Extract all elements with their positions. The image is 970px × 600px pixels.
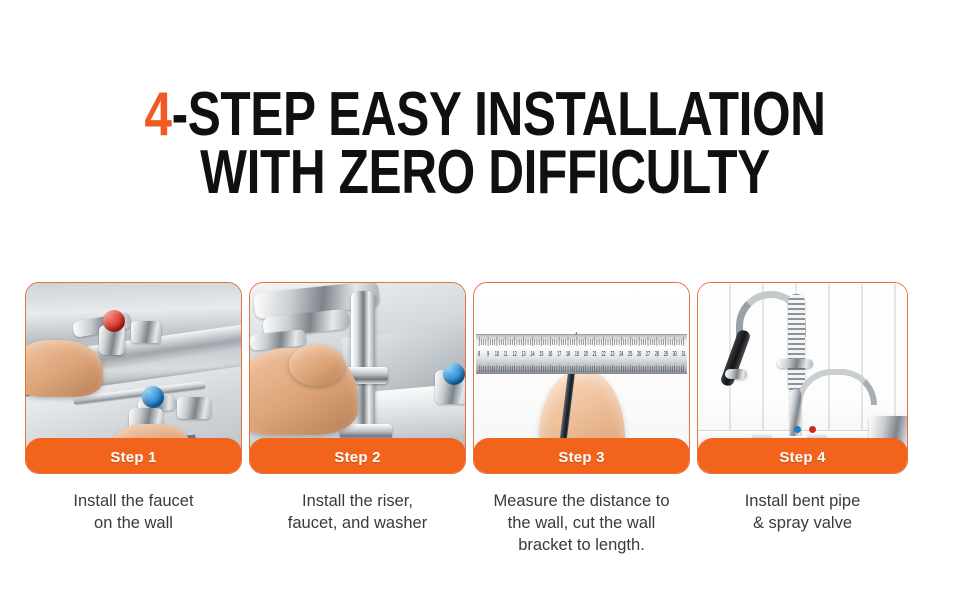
- svg-text:19: 19: [575, 351, 579, 359]
- step-4-badge-label: Step 4: [779, 449, 825, 466]
- step-2-card[interactable]: Step 2: [249, 282, 466, 474]
- svg-text:17: 17: [557, 351, 561, 359]
- step-3-card[interactable]: 8910111213141516171819202122232425262728…: [473, 282, 690, 474]
- svg-text:29: 29: [664, 351, 668, 359]
- steel-ruler: 8910111213141516171819202122232425262728…: [476, 334, 687, 374]
- svg-text:13: 13: [522, 351, 526, 359]
- step-2-caption: Install the riser, faucet, and washer: [243, 491, 473, 535]
- svg-text:15: 15: [539, 351, 543, 359]
- step-4-badge: Step 4: [697, 438, 908, 474]
- step-3-caption: Measure the distance to the wall, cut th…: [467, 491, 697, 557]
- headline-line-1: 4-STEP EASY INSTALLATION: [97, 86, 873, 144]
- step-2-caption-line-2: faucet, and washer: [243, 513, 473, 535]
- svg-text:8: 8: [478, 351, 480, 359]
- svg-text:10: 10: [495, 351, 499, 359]
- svg-text:20: 20: [584, 351, 588, 359]
- step-1-badge: Step 1: [25, 438, 242, 474]
- svg-text:28: 28: [655, 351, 659, 359]
- step-3-caption-line-2: the wall, cut the wall: [467, 513, 697, 535]
- step-card-1: Step 1 Install the faucet on the wall: [25, 282, 242, 557]
- step-3-badge-label: Step 3: [558, 449, 604, 466]
- svg-text:26: 26: [637, 351, 641, 359]
- svg-text:30: 30: [673, 351, 677, 359]
- svg-text:21: 21: [593, 351, 597, 359]
- svg-text:22: 22: [602, 351, 606, 359]
- step-3-caption-line-1: Measure the distance to: [467, 491, 697, 513]
- step-card-4: Step 4 Install bent pipe & spray valve: [697, 282, 908, 557]
- svg-text:14: 14: [531, 351, 535, 359]
- svg-text:27: 27: [646, 351, 650, 359]
- page-title: 4-STEP EASY INSTALLATION WITH ZERO DIFFI…: [0, 86, 970, 203]
- steps-row: Step 1 Install the faucet on the wall: [25, 282, 945, 557]
- headline-step-count: 4: [144, 80, 171, 149]
- ruler-ticks-icon: 8910111213141516171819202122232425262728…: [476, 335, 687, 373]
- step-card-3: 8910111213141516171819202122232425262728…: [473, 282, 690, 557]
- step-3-caption-line-3: bracket to length.: [467, 535, 697, 557]
- step-1-caption-line-1: Install the faucet: [19, 491, 249, 513]
- svg-text:24: 24: [619, 351, 623, 359]
- headline-line-2: WITH ZERO DIFFICULTY: [97, 144, 873, 202]
- svg-text:16: 16: [548, 351, 552, 359]
- promo-infographic: 4-STEP EASY INSTALLATION WITH ZERO DIFFI…: [0, 0, 970, 600]
- svg-text:18: 18: [566, 351, 570, 359]
- svg-text:9: 9: [487, 351, 489, 359]
- step-1-badge-label: Step 1: [110, 449, 156, 466]
- svg-text:25: 25: [628, 351, 632, 359]
- svg-text:31: 31: [682, 351, 686, 359]
- step-4-caption-line-2: & spray valve: [688, 513, 918, 535]
- svg-text:11: 11: [504, 351, 508, 359]
- svg-text:23: 23: [611, 351, 615, 359]
- step-4-caption: Install bent pipe & spray valve: [688, 491, 918, 535]
- step-card-2: Step 2 Install the riser, faucet, and wa…: [249, 282, 466, 557]
- step-1-caption: Install the faucet on the wall: [19, 491, 249, 535]
- step-2-badge: Step 2: [249, 438, 466, 474]
- step-1-card[interactable]: Step 1: [25, 282, 242, 474]
- step-1-caption-line-2: on the wall: [19, 513, 249, 535]
- step-4-card[interactable]: Step 4: [697, 282, 908, 474]
- step-3-badge: Step 3: [473, 438, 690, 474]
- step-4-caption-line-1: Install bent pipe: [688, 491, 918, 513]
- step-2-badge-label: Step 2: [334, 449, 380, 466]
- svg-text:12: 12: [513, 351, 517, 359]
- step-2-caption-line-1: Install the riser,: [243, 491, 473, 513]
